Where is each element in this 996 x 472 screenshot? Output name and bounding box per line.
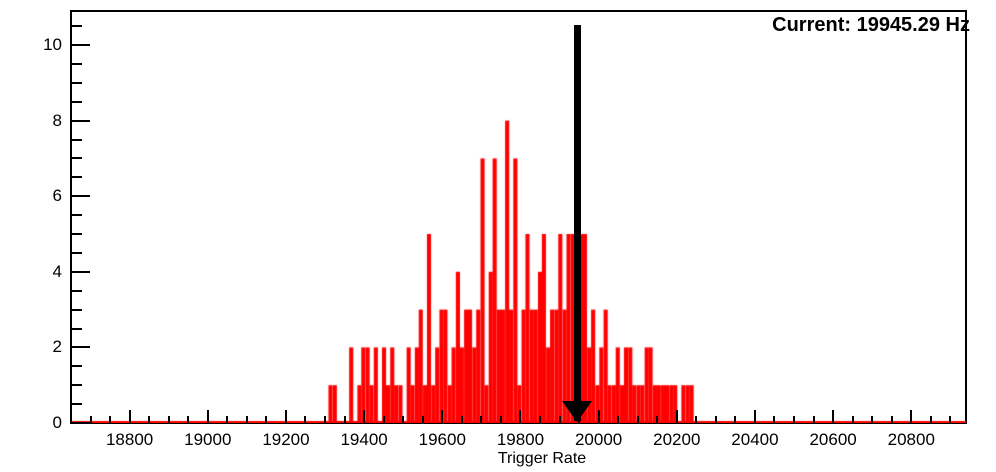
x-axis-minor-tick (187, 416, 189, 424)
x-axis-minor-tick (422, 416, 424, 424)
y-axis-tick-label: 10 (34, 36, 62, 53)
y-axis-major-tick (70, 120, 90, 122)
x-axis-minor-tick (304, 416, 306, 424)
x-axis-minor-tick (656, 416, 658, 424)
x-axis-major-tick (519, 410, 521, 424)
x-axis-minor-tick (480, 416, 482, 424)
x-axis-minor-tick (461, 416, 463, 424)
y-axis-minor-tick (70, 82, 82, 84)
y-axis-minor-tick (70, 63, 82, 65)
x-axis-minor-tick (559, 416, 561, 424)
x-axis-minor-tick (715, 416, 717, 424)
x-axis-major-tick (598, 410, 600, 424)
y-axis-minor-tick (70, 290, 82, 292)
y-axis-minor-tick (70, 214, 82, 216)
x-axis-minor-tick (773, 416, 775, 424)
y-axis-tick-label: 4 (34, 263, 62, 280)
x-axis-minor-tick (637, 416, 639, 424)
x-axis-tick-label: 20000 (554, 430, 644, 449)
y-axis-minor-tick (70, 176, 82, 178)
x-axis-tick-label: 20400 (710, 430, 800, 449)
x-axis-tick-label: 18800 (85, 430, 175, 449)
x-axis-minor-tick (109, 416, 111, 424)
x-axis-minor-tick (324, 416, 326, 424)
x-axis-minor-tick (949, 416, 951, 424)
x-axis-minor-tick (813, 416, 815, 424)
y-axis-minor-tick (70, 403, 82, 405)
x-axis-major-tick (754, 410, 756, 424)
y-axis-tick-label: 6 (34, 187, 62, 204)
x-axis-major-tick (832, 410, 834, 424)
x-axis-major-tick (207, 410, 209, 424)
x-axis-title-text: Trigger Rate (498, 450, 586, 467)
x-axis-minor-tick (246, 416, 248, 424)
y-axis-minor-tick (70, 384, 82, 386)
x-axis-major-tick (285, 410, 287, 424)
arrow-head-icon (562, 401, 592, 422)
arrow-shaft (574, 25, 581, 421)
x-axis-minor-tick (930, 416, 932, 424)
x-axis-tick-label: 20800 (866, 430, 956, 449)
y-axis-minor-tick (70, 157, 82, 159)
y-axis-minor-tick (70, 309, 82, 311)
y-axis-minor-tick (70, 139, 82, 141)
x-axis-major-tick (363, 410, 365, 424)
histogram-canvas (71, 11, 966, 423)
x-axis-minor-tick (226, 416, 228, 424)
y-axis-major-tick (70, 44, 90, 46)
x-axis-major-tick (129, 410, 131, 424)
x-axis-minor-tick (383, 416, 385, 424)
x-axis-minor-tick (793, 416, 795, 424)
x-axis-minor-tick (90, 416, 92, 424)
y-axis-labels: 0246810 (22, 0, 62, 472)
x-axis-minor-tick (734, 416, 736, 424)
y-axis-minor-tick (70, 25, 82, 27)
y-axis-major-tick (70, 271, 90, 273)
x-axis-minor-tick (539, 416, 541, 424)
x-axis-minor-tick (852, 416, 854, 424)
x-axis-minor-tick (500, 416, 502, 424)
x-axis-minor-tick (70, 416, 72, 424)
x-axis-tick-label: 19000 (163, 430, 253, 449)
y-axis-minor-tick (70, 252, 82, 254)
x-axis-tick-label: 20600 (788, 430, 878, 449)
x-axis-tick-label: 19600 (397, 430, 487, 449)
y-axis-major-tick (70, 346, 90, 348)
x-axis-major-tick (441, 410, 443, 424)
x-axis-tick-label: 19400 (319, 430, 409, 449)
x-axis-tick-label: 20200 (632, 430, 722, 449)
x-axis-minor-tick (265, 416, 267, 424)
y-axis-minor-tick (70, 101, 82, 103)
y-axis-tick-label: 2 (34, 338, 62, 355)
y-axis-major-tick (70, 422, 90, 424)
y-axis-tick-label: 0 (34, 414, 62, 431)
y-axis-tick-label: 8 (34, 112, 62, 129)
y-axis-minor-tick (70, 233, 82, 235)
y-axis-minor-tick (70, 328, 82, 330)
x-axis-major-tick (676, 410, 678, 424)
x-axis-minor-tick (148, 416, 150, 424)
x-axis-minor-tick (871, 416, 873, 424)
trigger-rate-histogram-panel: 0246810 18800190001920019400196001980020… (0, 0, 996, 472)
x-axis-tick-label: 19200 (241, 430, 331, 449)
x-axis-minor-tick (891, 416, 893, 424)
x-axis-minor-tick (168, 416, 170, 424)
y-axis-minor-tick (70, 365, 82, 367)
x-axis-tick-label: 19800 (475, 430, 565, 449)
current-rate-readout: Current: 19945.29 Hz (772, 14, 970, 37)
x-axis-minor-tick (344, 416, 346, 424)
x-axis-minor-tick (402, 416, 404, 424)
x-axis-major-tick (910, 410, 912, 424)
x-axis-minor-tick (695, 416, 697, 424)
x-axis-minor-tick (617, 416, 619, 424)
x-axis-title: Trigger Rate (0, 450, 996, 468)
y-axis-major-tick (70, 195, 90, 197)
